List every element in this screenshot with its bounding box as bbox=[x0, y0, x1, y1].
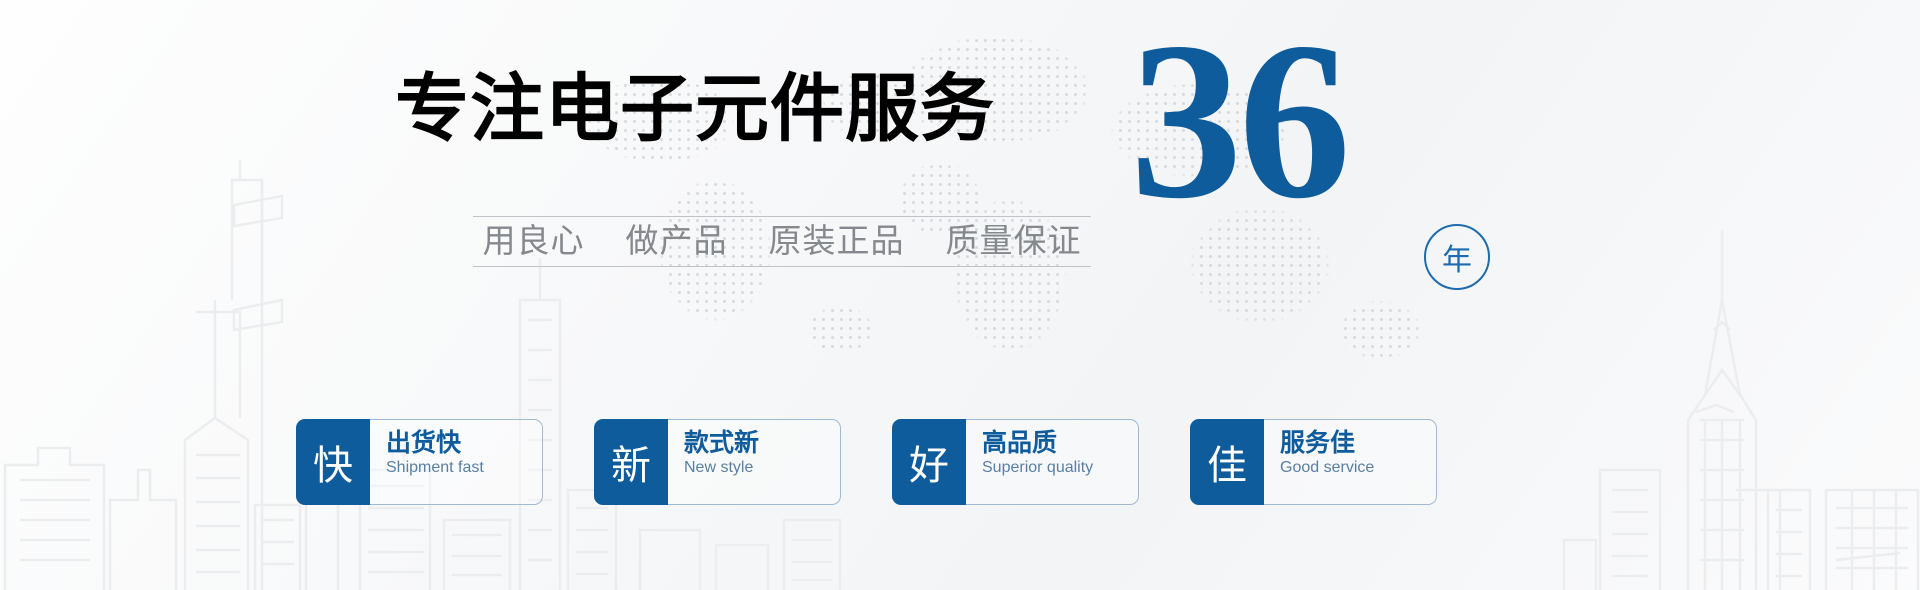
feature-card-title: 款式新 bbox=[684, 430, 840, 456]
subtitle-part-1: 用良心 bbox=[483, 221, 585, 260]
feature-card-body: 高品质 Superior quality bbox=[966, 419, 1139, 505]
subtitle-block: 用良心 做产品 原装正品 质量保证 bbox=[473, 216, 1091, 267]
feature-card-body: 出货快 Shipment fast bbox=[370, 419, 543, 505]
promo-banner: 专注 电子元件服务 36 年 用良心 做产品 原装正品 质量保证 快 出货快 S… bbox=[0, 0, 1920, 590]
feature-card-badge: 好 bbox=[892, 419, 966, 505]
feature-card-title: 高品质 bbox=[982, 430, 1138, 456]
feature-card-title: 出货快 bbox=[386, 430, 542, 456]
years-unit-badge: 年 bbox=[1424, 224, 1490, 290]
subtitle-rule-bottom bbox=[473, 266, 1091, 267]
feature-card-new-style[interactable]: 新 款式新 New style bbox=[594, 419, 841, 505]
feature-card-body: 服务佳 Good service bbox=[1264, 419, 1437, 505]
feature-card-badge: 新 bbox=[594, 419, 668, 505]
subtitle-part-2: 做产品 bbox=[626, 221, 728, 260]
headline-blue-text: 电子元件服务 bbox=[545, 72, 995, 146]
feature-card-good-service[interactable]: 佳 服务佳 Good service bbox=[1190, 419, 1437, 505]
years-number: 36 bbox=[1130, 8, 1347, 233]
feature-card-shipment-fast[interactable]: 快 出货快 Shipment fast bbox=[296, 419, 543, 505]
feature-card-title: 服务佳 bbox=[1280, 430, 1436, 456]
headline: 专注 电子元件服务 bbox=[395, 72, 995, 146]
feature-card-body: 款式新 New style bbox=[668, 419, 841, 505]
years-unit-label: 年 bbox=[1442, 235, 1472, 279]
subtitle-part-4: 质量保证 bbox=[946, 221, 1082, 260]
feature-card-list: 快 出货快 Shipment fast 新 款式新 New style 好 高品… bbox=[296, 419, 1437, 505]
feature-card-badge: 快 bbox=[296, 419, 370, 505]
subtitle-part-3: 原装正品 bbox=[769, 221, 905, 260]
headline-gray-text: 专注 bbox=[395, 72, 545, 146]
feature-card-badge: 佳 bbox=[1190, 419, 1264, 505]
subtitle-text: 用良心 做产品 原装正品 质量保证 bbox=[473, 217, 1091, 266]
feature-card-subtitle: Good service bbox=[1280, 460, 1436, 476]
feature-card-subtitle: New style bbox=[684, 460, 840, 476]
feature-card-subtitle: Shipment fast bbox=[386, 460, 542, 476]
feature-card-subtitle: Superior quality bbox=[982, 460, 1138, 476]
feature-card-superior-quality[interactable]: 好 高品质 Superior quality bbox=[892, 419, 1139, 505]
